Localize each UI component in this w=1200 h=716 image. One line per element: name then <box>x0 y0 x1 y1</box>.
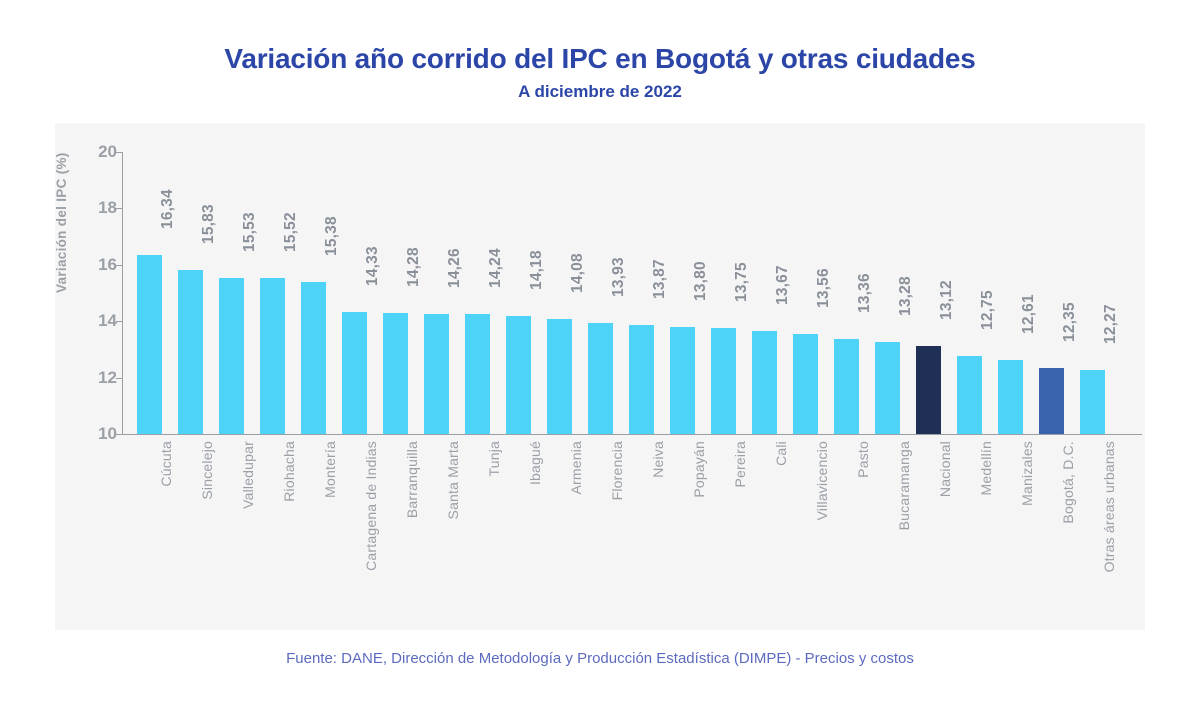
bar[interactable] <box>588 323 613 434</box>
bar[interactable] <box>547 319 572 434</box>
category-slot: Pasto <box>826 435 867 625</box>
bar-slot: 15,52 <box>252 152 293 434</box>
source-note: Fuente: DANE, Dirección de Metodología y… <box>0 650 1200 667</box>
bar[interactable] <box>670 327 695 434</box>
category-slot: Popayán <box>662 435 703 625</box>
bar-slot: 12,75 <box>949 152 990 434</box>
bar[interactable] <box>793 334 818 434</box>
page-title: Variación año corrido del IPC en Bogotá … <box>0 44 1200 75</box>
category-slot: Otras áreas urbanas <box>1072 435 1113 625</box>
bar[interactable] <box>875 342 900 434</box>
bar[interactable] <box>342 312 367 434</box>
category-slot: Cartagena de Indias <box>334 435 375 625</box>
bar-slot: 13,93 <box>580 152 621 434</box>
bar[interactable] <box>711 328 736 434</box>
bar-slot: 15,83 <box>170 152 211 434</box>
bar-value-label: 12,27 <box>1102 304 1120 344</box>
x-axis-category-label[interactable]: Otras áreas urbanas <box>1101 441 1117 572</box>
y-axis-tick-label: 10 <box>73 424 117 444</box>
category-slot: Villavicencio <box>785 435 826 625</box>
y-axis-tick-mark <box>116 265 122 266</box>
bar[interactable] <box>1039 368 1064 434</box>
category-slot: Barranquilla <box>375 435 416 625</box>
x-axis-category-labels: CúcutaSincelejoValleduparRiohachaMonterí… <box>123 435 1142 625</box>
category-slot: Ibagué <box>498 435 539 625</box>
bar-slot: 14,08 <box>539 152 580 434</box>
category-slot: Montería <box>293 435 334 625</box>
bar-slot: 13,67 <box>744 152 785 434</box>
category-slot: Valledupar <box>211 435 252 625</box>
bar-slot: 13,36 <box>826 152 867 434</box>
bar[interactable] <box>957 356 982 434</box>
bar[interactable] <box>629 325 654 434</box>
category-slot: Bucaramanga <box>867 435 908 625</box>
y-axis-tick-label: 16 <box>73 255 117 275</box>
page-subtitle: A diciembre de 2022 <box>0 83 1200 102</box>
category-slot: Bogotá, D.C. <box>1031 435 1072 625</box>
bar-slot: 13,75 <box>703 152 744 434</box>
bar[interactable] <box>998 360 1023 434</box>
category-slot: Neiva <box>621 435 662 625</box>
bar-slot: 12,35 <box>1031 152 1072 434</box>
y-axis-tick-mark <box>116 434 122 435</box>
bar-slot: 13,56 <box>785 152 826 434</box>
bar-slot: 12,27 <box>1072 152 1113 434</box>
bar-slot: 13,28 <box>867 152 908 434</box>
bar[interactable] <box>260 278 285 434</box>
y-axis-tick-labels: 101214161820 <box>55 123 117 630</box>
bar[interactable] <box>834 339 859 434</box>
title-block: Variación año corrido del IPC en Bogotá … <box>0 44 1200 101</box>
bar[interactable] <box>137 255 162 434</box>
bar-slot: 14,33 <box>334 152 375 434</box>
category-slot: Armenia <box>539 435 580 625</box>
bar[interactable] <box>178 270 203 434</box>
bar[interactable] <box>219 278 244 434</box>
bar-slot: 16,34 <box>129 152 170 434</box>
category-slot: Santa Marta <box>416 435 457 625</box>
bar[interactable] <box>752 331 777 434</box>
category-slot: Nacional <box>908 435 949 625</box>
y-axis-tick-mark <box>116 321 122 322</box>
category-slot: Riohacha <box>252 435 293 625</box>
y-axis-tick-mark <box>116 378 122 379</box>
bar[interactable] <box>424 314 449 434</box>
bar-slot: 13,87 <box>621 152 662 434</box>
category-slot: Manizales <box>990 435 1031 625</box>
y-axis-tick-label: 12 <box>73 368 117 388</box>
y-axis-tick-label: 20 <box>73 142 117 162</box>
bar-slot: 13,12 <box>908 152 949 434</box>
bar[interactable] <box>465 314 490 434</box>
y-axis-tick-label: 14 <box>73 311 117 331</box>
category-slot: Tunja <box>457 435 498 625</box>
category-slot: Florencia <box>580 435 621 625</box>
category-slot: Pereira <box>703 435 744 625</box>
bar-slot: 14,24 <box>457 152 498 434</box>
bar[interactable] <box>383 313 408 434</box>
bar-slot: 14,28 <box>375 152 416 434</box>
bar-slot: 14,18 <box>498 152 539 434</box>
bar[interactable] <box>1080 370 1105 434</box>
category-slot: Cali <box>744 435 785 625</box>
bar-slot: 13,80 <box>662 152 703 434</box>
chart-page: Variación año corrido del IPC en Bogotá … <box>0 0 1200 716</box>
bar-slot: 15,53 <box>211 152 252 434</box>
y-axis-tick-mark <box>116 208 122 209</box>
bar[interactable] <box>916 346 941 434</box>
bar-slot: 12,61 <box>990 152 1031 434</box>
category-slot: Sincelejo <box>170 435 211 625</box>
bars-area: 16,3415,8315,5315,5215,3814,3314,2814,26… <box>123 152 1142 434</box>
y-axis-tick-mark <box>116 152 122 153</box>
bar[interactable] <box>506 316 531 434</box>
plot-panel: Variación del IPC (%) 101214161820 16,34… <box>55 123 1145 630</box>
bar-slot: 15,38 <box>293 152 334 434</box>
y-axis-tick-label: 18 <box>73 198 117 218</box>
category-slot: Medellín <box>949 435 990 625</box>
bar[interactable] <box>301 282 326 434</box>
category-slot: Cúcuta <box>129 435 170 625</box>
bar-slot: 14,26 <box>416 152 457 434</box>
